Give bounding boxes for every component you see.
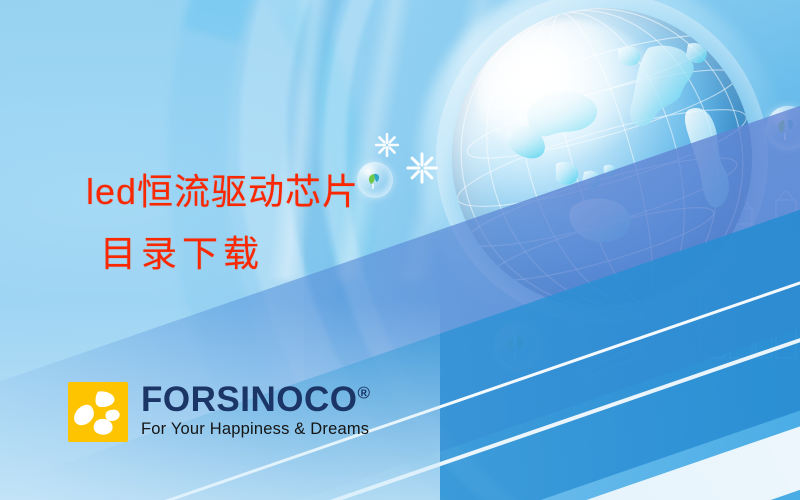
logo-name: FORSINOCO® [141,382,370,418]
flower-pinwheel-icon [68,382,128,442]
promo-banner: led恒流驱动芯片 目录下载 FORSINOCO® For Your Happi… [0,0,800,500]
bubble-icon-3 [766,106,800,150]
sparkle-star-icon-2 [405,151,439,185]
bubble-icon-1 [357,162,393,198]
brand-logo: FORSINOCO® For Your Happiness & Dreams [68,382,370,442]
logo-tagline: For Your Happiness & Dreams [141,419,370,439]
globe-sphere [452,8,752,308]
green-leaf-icon-3 [766,106,800,150]
headline-line-2: 目录下载 [100,228,264,280]
logo-name-text: FORSINOCO [141,380,357,419]
bubble-icon-2 [493,322,541,370]
green-leaf-icon-2 [493,322,541,370]
green-leaf-icon-1 [357,162,393,198]
globe-icon [452,8,752,308]
sparkle-star-icon-1 [374,132,400,158]
registered-trademark-icon: ® [357,383,370,402]
logo-text-block: FORSINOCO® For Your Happiness & Dreams [141,382,370,439]
headline-line-1: led恒流驱动芯片 [86,166,359,218]
flower-pinwheel-petals [68,382,128,442]
globe-gloss-highlight [476,20,662,164]
